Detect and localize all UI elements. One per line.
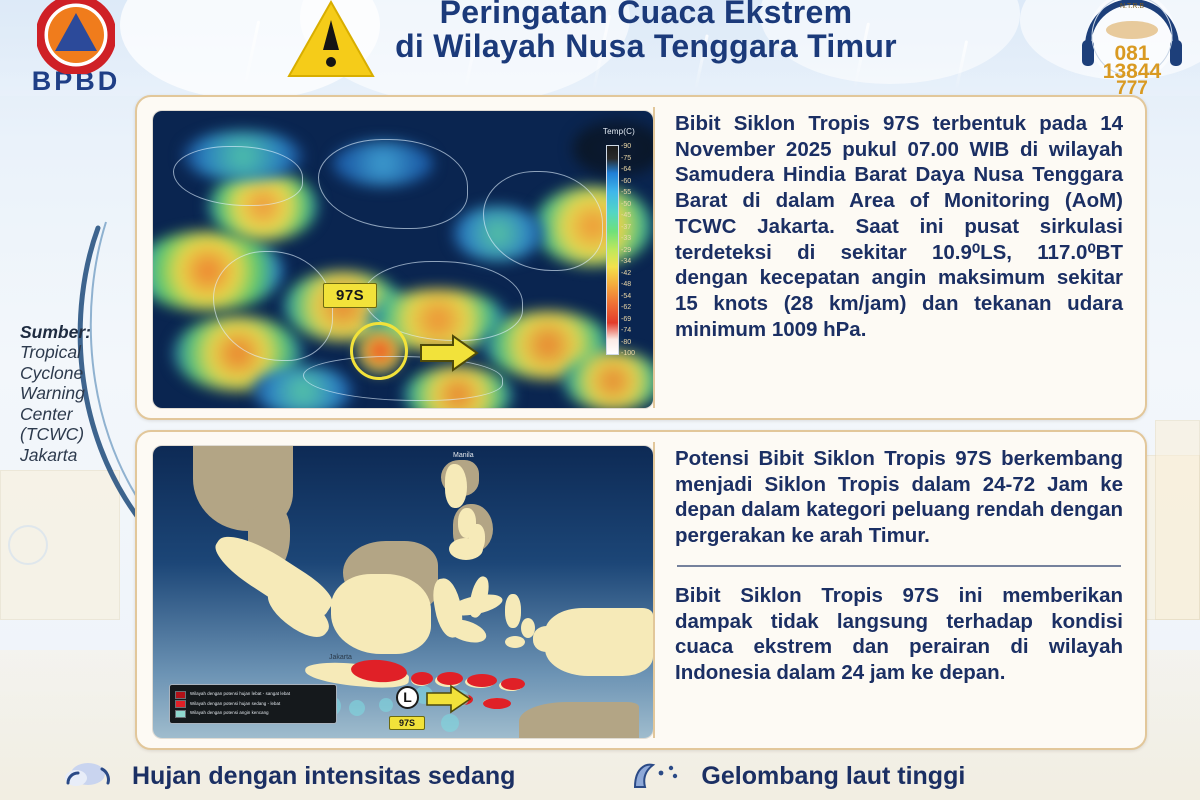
colorbar-title: Temp(C) <box>603 127 635 136</box>
legend-label: Wilayah dengan potensi angin kencang <box>190 711 269 716</box>
page-header: BPBD Peringatan Cuaca Ekstrem di Wilayah… <box>0 0 1200 96</box>
source-line3: Warning <box>20 383 132 403</box>
paragraph-divider <box>677 565 1121 567</box>
colorbar-tick: -48 <box>621 281 639 288</box>
low-pressure-symbol: L <box>396 686 419 709</box>
rain-cloud-icon <box>62 759 118 793</box>
panel-b-text-column: Potensi Bibit Siklon Tropis 97S berkemba… <box>653 432 1145 748</box>
legend-swatch <box>175 710 186 718</box>
colorbar-tick: -74 <box>621 327 639 334</box>
legend-label: Wilayah dengan potensi hujan lebat - san… <box>190 692 290 697</box>
source-line5: (TCWC) <box>20 424 132 444</box>
page-title-line1: Peringatan Cuaca Ekstrem <box>286 0 1006 30</box>
indonesia-impact-region-map: Jakarta Manila L 97S Wilayah dengan pote… <box>153 446 653 738</box>
call-center-headset-icon: N.T.R.B 081 13844 777 <box>1054 0 1194 106</box>
colorbar-tick: -34 <box>621 258 639 265</box>
legend-swatch <box>175 700 186 708</box>
call-center-logo: N.T.R.B 081 13844 777 081 13844 777 <box>1054 0 1194 106</box>
page-footer: Hujan dengan intensitas sedang Gelombang… <box>0 752 1200 800</box>
panel-a-paragraph: Bibit Siklon Tropis 97S terbentuk pada 1… <box>675 111 1123 342</box>
colorbar-tick: -45 <box>621 212 639 219</box>
colorbar-tick: -64 <box>621 166 639 173</box>
bpbd-logo: BPBD <box>24 0 128 95</box>
legend-swatch <box>175 691 186 699</box>
satellite-infrared-cloud-map: Temp(C) -90 -75 -64 -60 -55 -50 -45 -37 … <box>153 111 653 408</box>
colorbar-tick: -54 <box>621 293 639 300</box>
cyclone-label-97s: 97S <box>389 716 425 730</box>
colorbar-tick: -90 <box>621 143 639 150</box>
panel-b-paragraph-top: Potensi Bibit Siklon Tropis 97S berkemba… <box>675 446 1123 549</box>
panel-b-paragraph-bottom: Bibit Siklon Tropis 97S ini memberikan d… <box>675 583 1123 686</box>
warning-triangle-exclamation-icon <box>286 0 376 80</box>
manila-label: Manila <box>453 452 474 459</box>
eastward-movement-arrow-icon <box>425 684 473 714</box>
panel-divider <box>653 107 655 408</box>
panel-impact-forecast: Jakarta Manila L 97S Wilayah dengan pote… <box>135 430 1147 750</box>
jakarta-label: Jakarta <box>329 654 352 661</box>
legend-item: Wilayah dengan potensi hujan lebat - san… <box>175 691 331 699</box>
source-line6: Jakarta <box>20 445 132 465</box>
colorbar-tick: -55 <box>621 189 639 196</box>
svg-text:N.T.R.B: N.T.R.B <box>1120 3 1144 10</box>
map-legend: Wilayah dengan potensi hujan lebat - san… <box>169 684 337 724</box>
source-label: Sumber: <box>20 322 91 342</box>
footer-label-rain: Hujan dengan intensitas sedang <box>132 762 515 791</box>
legend-label: Wilayah dengan potensi hujan sedang - le… <box>190 702 280 707</box>
colorbar-tick-labels: -90 -75 -64 -60 -55 -50 -45 -37 -33 -29 … <box>621 143 639 357</box>
background-building <box>1155 420 1200 620</box>
colorbar-tick: -80 <box>621 339 639 346</box>
legend-item: Wilayah dengan potensi hujan sedang - le… <box>175 700 331 708</box>
source-credit: Sumber: Tropical Cyclone Warning Center … <box>20 322 132 465</box>
footer-label-wave: Gelombang laut tinggi <box>701 762 965 791</box>
svg-text:777: 777 <box>1116 78 1148 99</box>
colorbar-tick: -37 <box>621 224 639 231</box>
page-title-line2: di Wilayah Nusa Tenggara Timur <box>286 30 1006 64</box>
colorbar-tick: -75 <box>621 155 639 162</box>
temperature-colorbar <box>606 145 619 355</box>
colorbar-tick: -33 <box>621 235 639 242</box>
footer-item-rain: Hujan dengan intensitas sedang <box>62 759 515 793</box>
bpbd-shield-triangle-logo-icon <box>37 0 115 74</box>
colorbar-tick: -42 <box>621 270 639 277</box>
colorbar-tick: -69 <box>621 316 639 323</box>
panel-divider <box>653 442 655 738</box>
colorbar-tick: -100 <box>621 350 639 357</box>
colorbar-tick: -50 <box>621 201 639 208</box>
high-sea-wave-icon <box>631 759 687 793</box>
eastward-movement-arrow-icon <box>419 333 481 373</box>
colorbar-tick: -60 <box>621 178 639 185</box>
cyclone-label-97s: 97S <box>323 283 377 308</box>
source-line2: Cyclone <box>20 363 132 383</box>
panel-a-text-column: Bibit Siklon Tropis 97S terbentuk pada 1… <box>653 97 1145 418</box>
footer-item-wave: Gelombang laut tinggi <box>631 759 965 793</box>
panel-satellite-observation: Temp(C) -90 -75 -64 -60 -55 -50 -45 -37 … <box>135 95 1147 420</box>
colorbar-tick: -29 <box>621 247 639 254</box>
legend-item: Wilayah dengan potensi angin kencang <box>175 710 331 718</box>
source-line1: Tropical <box>20 342 132 362</box>
source-line4: Center <box>20 404 132 424</box>
title-block: Peringatan Cuaca Ekstrem di Wilayah Nusa… <box>286 0 1006 64</box>
colorbar-tick: -62 <box>621 304 639 311</box>
cyclone-seed-circle-highlight-icon <box>350 322 408 380</box>
